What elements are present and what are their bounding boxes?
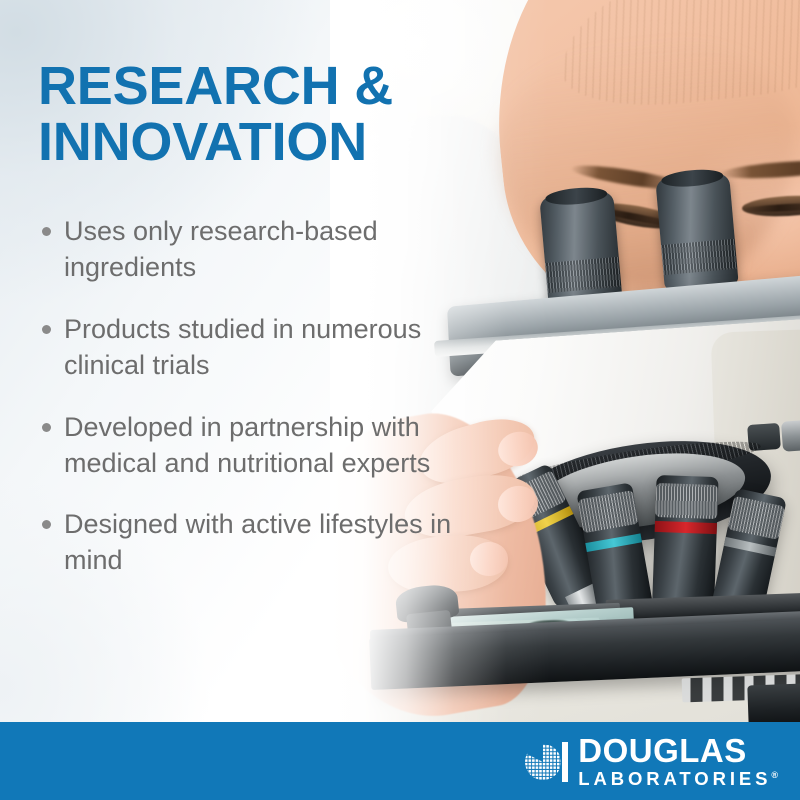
bullet-dot-icon — [42, 520, 51, 529]
objective-color-band — [724, 537, 777, 557]
condenser-assembly — [747, 683, 800, 726]
list-item-label: Uses only research-based ingredients — [64, 216, 378, 282]
logo-wordmark: DOUGLAS LABORATORIES® — [578, 735, 778, 788]
list-item: Designed with active lifestyles in mind — [38, 507, 458, 579]
focus-knob — [781, 418, 800, 452]
list-item: Products studied in numerous clinical tr… — [38, 312, 458, 384]
bullet-dot-icon — [42, 423, 51, 432]
bullet-dot-icon — [42, 325, 51, 334]
eyepiece-knurl — [545, 257, 621, 293]
list-item: Uses only research-based ingredients — [38, 214, 458, 286]
eyepiece-knurl — [661, 239, 737, 275]
footer-bar: DOUGLAS LABORATORIES® — [0, 722, 800, 800]
douglas-laboratories-logo: DOUGLAS LABORATORIES® — [525, 735, 778, 788]
list-item-label: Products studied in numerous clinical tr… — [64, 314, 421, 380]
objective-knurl — [578, 490, 639, 533]
eyepiece-left — [539, 191, 622, 309]
list-item-label: Designed with active lifestyles in mind — [64, 509, 451, 575]
objective-knurl — [655, 483, 718, 519]
title-line-2: INNOVATION — [38, 112, 367, 172]
bullet-dot-icon — [42, 227, 51, 236]
objective-knurl — [727, 496, 785, 540]
title-line-1: RESEARCH & — [38, 56, 393, 116]
logo-subtitle-text: LABORATORIES — [578, 768, 771, 789]
research-innovation-card: RESEARCH & INNOVATION Uses only research… — [0, 0, 800, 800]
page-title: RESEARCH & INNOVATION — [38, 58, 468, 170]
logo-brand-name: DOUGLAS — [578, 735, 778, 767]
eyepiece-right — [655, 173, 738, 291]
douglas-halftone-circle-mark-icon — [525, 738, 569, 786]
feature-bullet-list: Uses only research-based ingredients Pro… — [38, 214, 458, 579]
objective-color-band — [585, 533, 642, 552]
list-item: Developed in partnership with medical an… — [38, 410, 458, 482]
objective-color-band — [655, 521, 717, 534]
logo-subtitle: LABORATORIES® — [578, 769, 778, 788]
registered-trademark-icon: ® — [771, 770, 778, 780]
list-item-label: Developed in partnership with medical an… — [64, 412, 430, 478]
